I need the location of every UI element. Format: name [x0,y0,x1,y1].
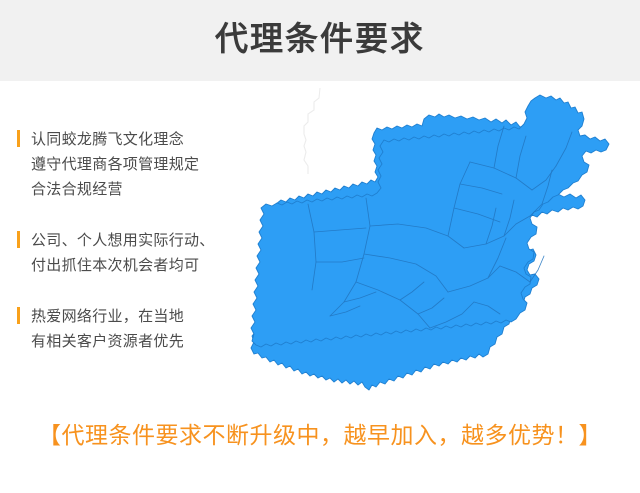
requirements-list: 认同蛟龙腾飞文化理念 遵守代理商各项管理规定 合法合规经营 公司、个人想用实际行… [17,127,267,354]
footer-note: 【代理条件要求不断升级中，越早加入，越多优势！】 [0,419,640,453]
bullet-marker-icon [17,307,20,324]
requirement-text: 公司、个人想用实际行动、 付出抓住本次机会者均可 [31,228,267,278]
requirement-line: 付出抓住本次机会者均可 [31,253,267,278]
requirement-line: 有相关客户资源者优先 [31,329,267,354]
list-item: 认同蛟龙腾飞文化理念 遵守代理商各项管理规定 合法合规经营 [17,127,267,202]
requirement-line: 认同蛟龙腾飞文化理念 [31,127,267,152]
china-map [248,86,640,406]
list-item: 热爱网络行业，在当地 有相关客户资源者优先 [17,304,267,354]
slide-canvas: 代理条件要求 [0,0,640,493]
requirement-line: 公司、个人想用实际行动、 [31,228,267,253]
list-item: 公司、个人想用实际行动、 付出抓住本次机会者均可 [17,228,267,278]
requirement-line: 合法合规经营 [31,177,267,202]
requirement-line: 遵守代理商各项管理规定 [31,152,267,177]
bullet-marker-icon [17,130,20,147]
page-title: 代理条件要求 [0,17,640,61]
requirement-text: 热爱网络行业，在当地 有相关客户资源者优先 [31,304,267,354]
requirement-text: 认同蛟龙腾飞文化理念 遵守代理商各项管理规定 合法合规经营 [31,127,267,202]
bullet-marker-icon [17,231,20,248]
requirement-line: 热爱网络行业，在当地 [31,304,267,329]
